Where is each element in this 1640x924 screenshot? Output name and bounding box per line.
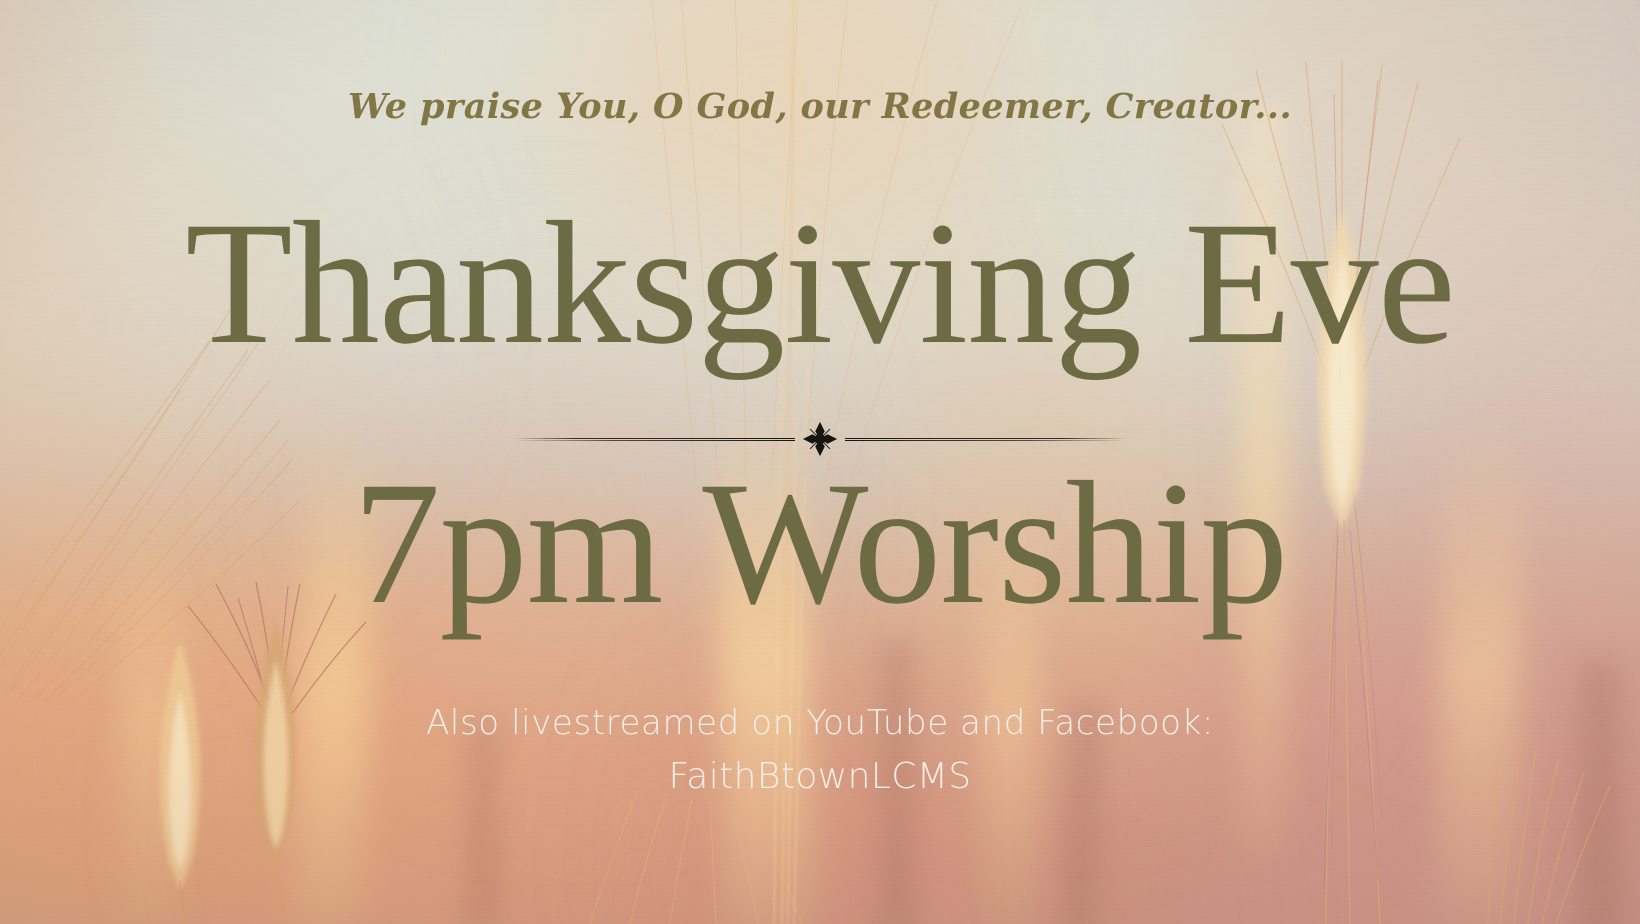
thanksgiving-eve-worship-slide: We praise You, O God, our Redeemer, Crea… (0, 0, 1640, 924)
headline-line-2: 7pm Worship (0, 456, 1640, 632)
headline-line-1: Thanksgiving Eve (0, 196, 1640, 372)
slide-content: We praise You, O God, our Redeemer, Crea… (0, 0, 1640, 924)
livestream-handle: FaithBtownLCMS (0, 752, 1640, 802)
livestream-note: Also livestreamed on YouTube and Faceboo… (0, 700, 1640, 746)
tagline: We praise You, O God, our Redeemer, Crea… (0, 86, 1640, 127)
divider-rule-left (513, 437, 795, 442)
divider-rule-right (845, 437, 1127, 442)
footer-block: Also livestreamed on YouTube and Faceboo… (0, 700, 1640, 802)
